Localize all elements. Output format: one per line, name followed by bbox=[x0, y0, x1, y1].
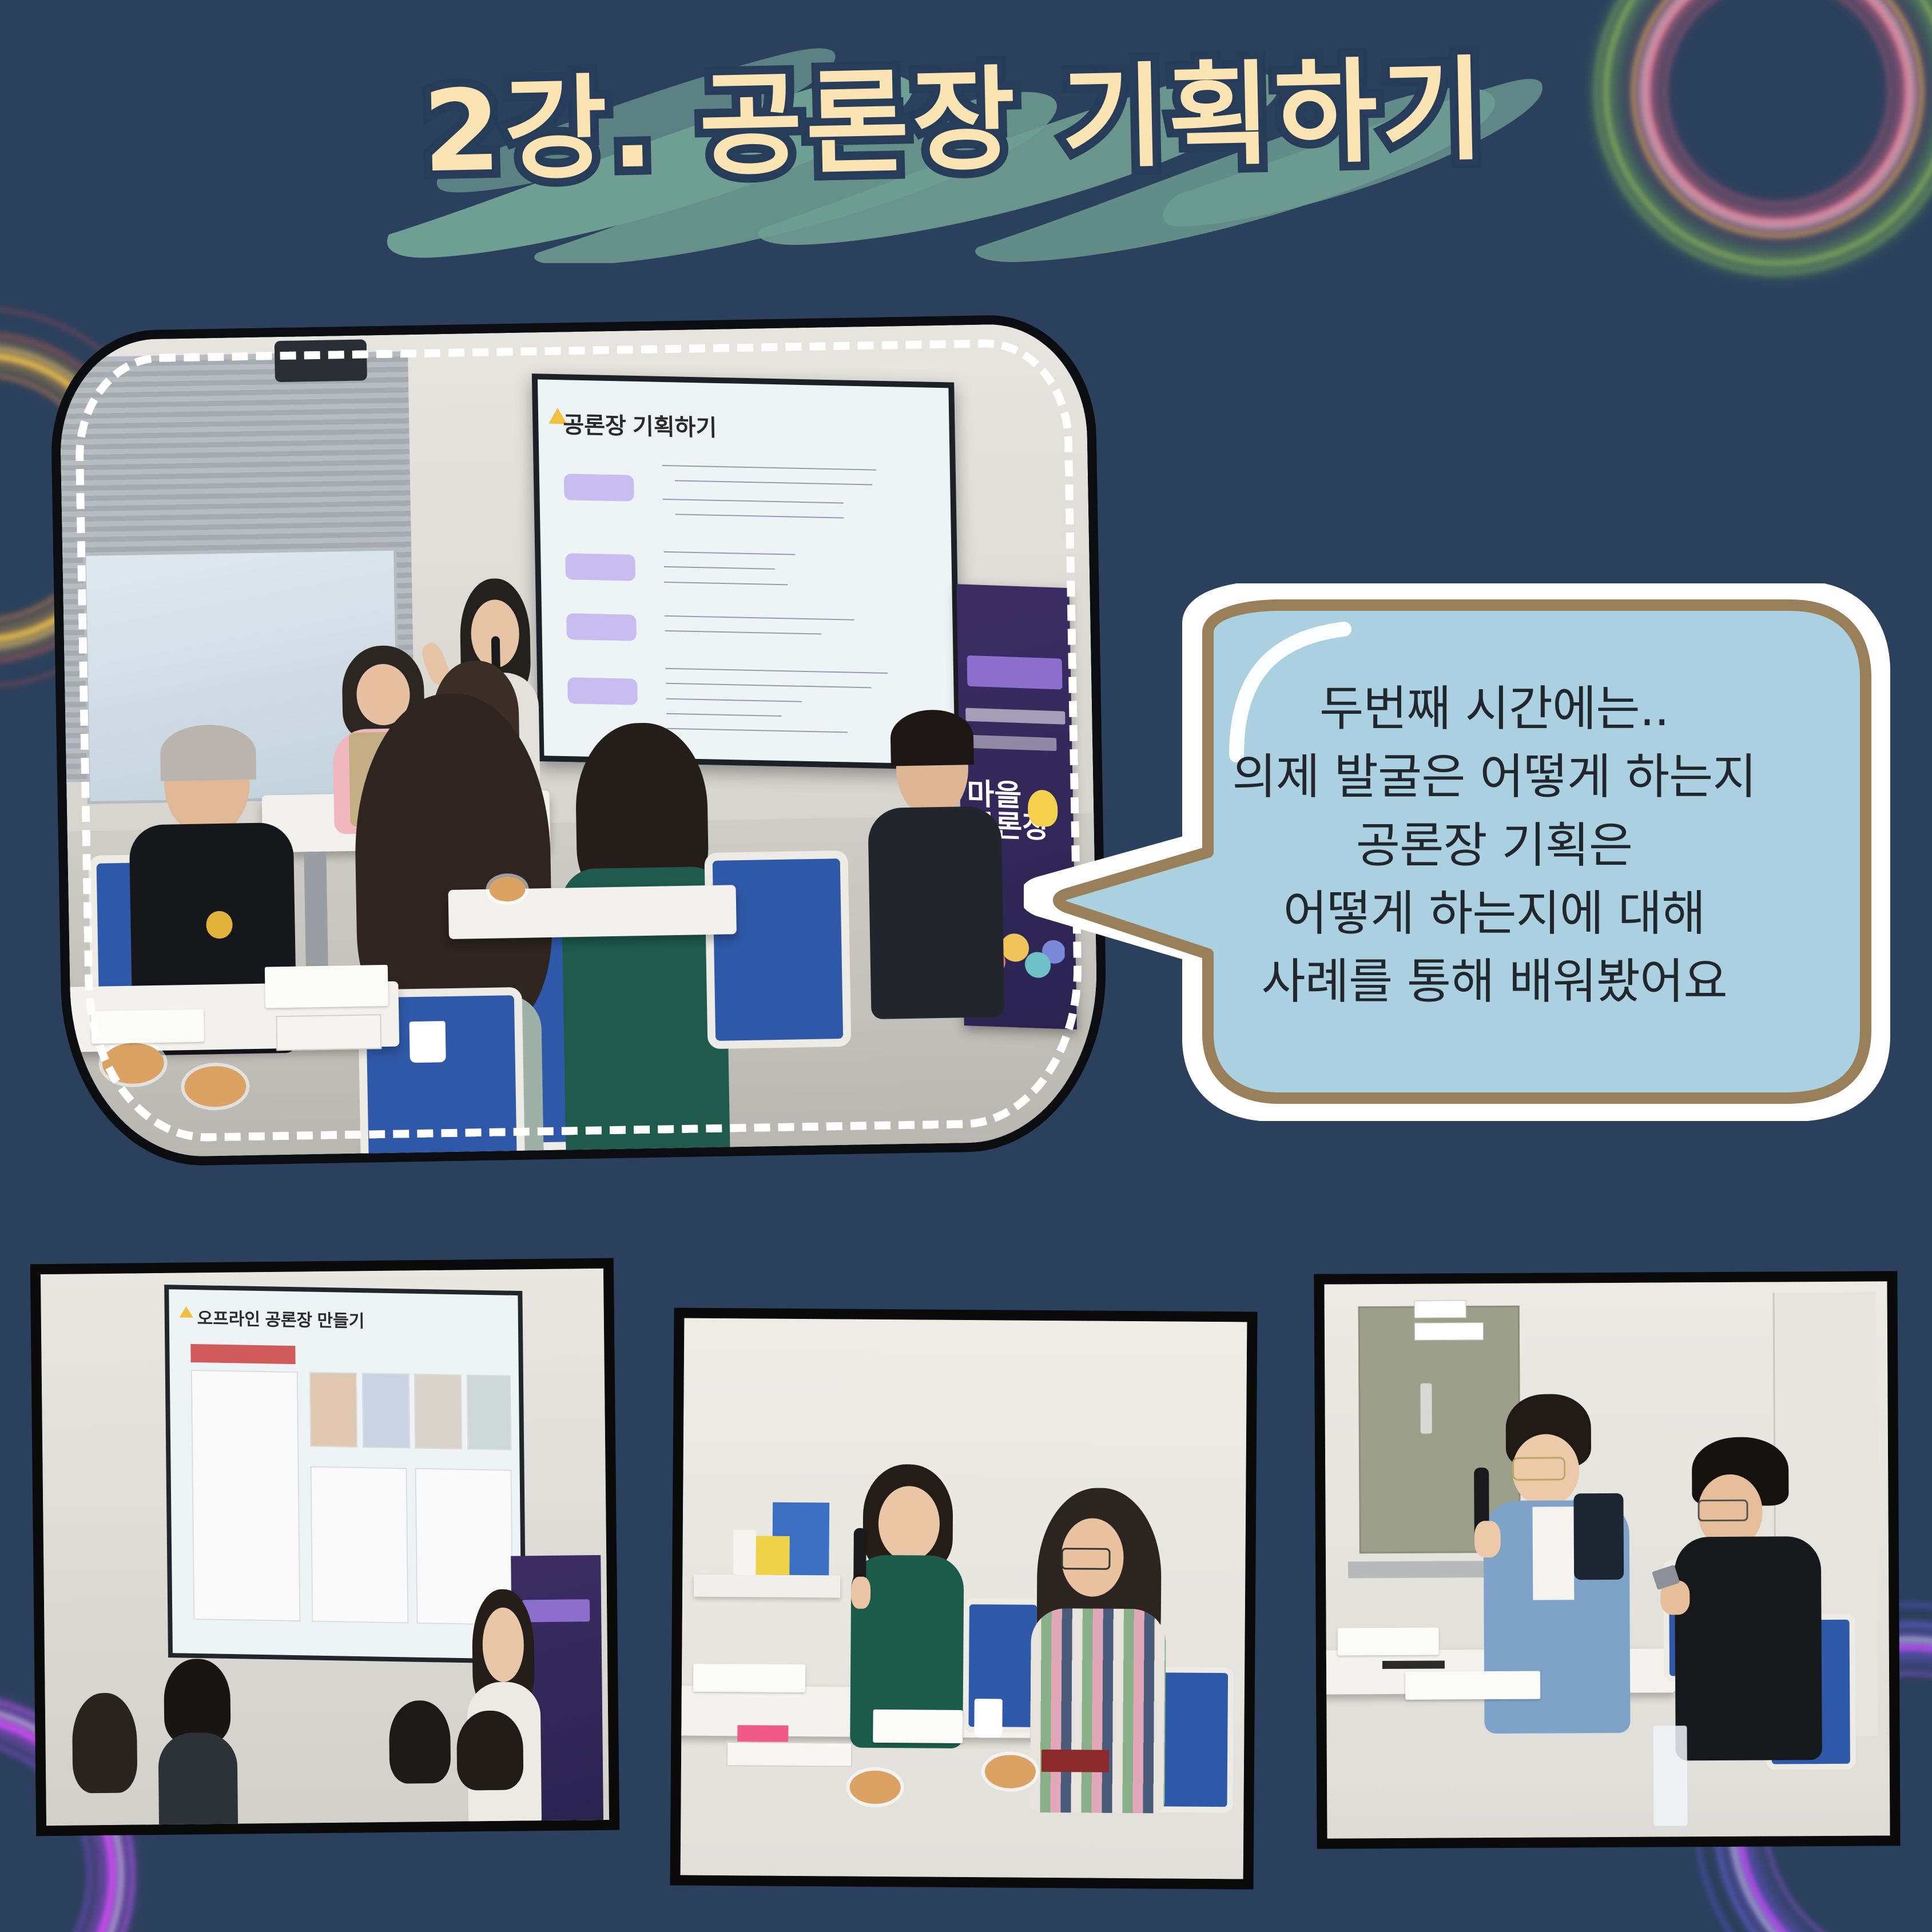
cabinet-tag bbox=[1414, 1300, 1466, 1318]
mini-attendee bbox=[383, 1700, 458, 1826]
slide-body-line bbox=[675, 514, 844, 518]
poster-canvas: 2강. 공론장 기획하기 공론장 기획하기 bbox=[0, 0, 1932, 1932]
slide-chip-goal bbox=[564, 474, 634, 502]
paper-cup bbox=[974, 1699, 1003, 1738]
glasses bbox=[1512, 1457, 1565, 1481]
rolled-paper bbox=[693, 1664, 806, 1692]
bread-item bbox=[985, 1755, 1036, 1788]
handout bbox=[873, 1710, 963, 1744]
bubble-line: 공론장 기획은 bbox=[1147, 812, 1842, 880]
speech-bubble: 두번째 시간에는.. 의제 발굴은 어떻게 하는지 공론장 기획은 어떻게 하는… bbox=[1024, 583, 1893, 1121]
head bbox=[878, 1486, 940, 1561]
torso bbox=[868, 806, 1005, 1020]
article-card bbox=[191, 1370, 301, 1621]
slide-body-line bbox=[666, 713, 781, 716]
side-shelf bbox=[694, 1575, 840, 1598]
thumbnail-2-image bbox=[681, 1318, 1247, 1879]
slide-body-line bbox=[666, 668, 888, 674]
ceiling-projector bbox=[275, 340, 368, 382]
handout bbox=[91, 1009, 204, 1044]
pen bbox=[1382, 1660, 1444, 1669]
slide-body-line bbox=[662, 464, 876, 470]
feed-card bbox=[309, 1372, 358, 1448]
black-hoodie bbox=[1675, 1536, 1822, 1760]
listening-participant-black bbox=[1674, 1437, 1822, 1748]
page-title: 2강. 공론장 기획하기 bbox=[365, 39, 1546, 204]
mini-attendee bbox=[450, 1710, 530, 1826]
hero-photo: 공론장 기획하기 bbox=[59, 323, 1100, 1158]
mini-attendee bbox=[67, 1692, 142, 1826]
hero-scene: 공론장 기획하기 bbox=[59, 323, 1100, 1158]
feed-card bbox=[414, 1374, 463, 1450]
handout bbox=[1337, 1627, 1438, 1655]
participant-right bbox=[866, 717, 1005, 997]
bubble-line: 사례를 통해 배워봤어요 bbox=[1147, 948, 1842, 1016]
thumbnail-photo-1: 오프라인 공론장 만들기 81 bbox=[30, 1258, 619, 1836]
thumbnail-1-image: 오프라인 공론장 만들기 81 bbox=[41, 1269, 609, 1826]
plaid-coat bbox=[1029, 1608, 1166, 1813]
glasses bbox=[1061, 1548, 1111, 1570]
white-tshirt bbox=[1533, 1507, 1574, 1600]
slide-body-line bbox=[664, 566, 775, 570]
comment-column bbox=[311, 1466, 409, 1623]
bread-item bbox=[850, 1771, 901, 1804]
chair-right bbox=[704, 850, 851, 1050]
slide-body-line bbox=[664, 581, 788, 585]
hand bbox=[851, 1576, 870, 1608]
glasses bbox=[1698, 1500, 1748, 1522]
slide-chip-participants bbox=[565, 553, 635, 581]
feed-card bbox=[362, 1373, 411, 1449]
slide-body-line bbox=[663, 499, 844, 504]
head bbox=[482, 1608, 524, 1682]
article-header bbox=[190, 1344, 295, 1364]
bubble-line: 두번째 시간에는.. bbox=[1147, 675, 1842, 743]
pink-notepad bbox=[738, 1725, 789, 1742]
slide-body-line bbox=[675, 480, 872, 485]
thumbnail-3-image bbox=[1324, 1281, 1890, 1838]
slide-body-line bbox=[665, 630, 821, 635]
water-bottle bbox=[1653, 1726, 1687, 1826]
slide-chip-operation bbox=[567, 677, 638, 705]
mini-slide-triangle-icon bbox=[180, 1306, 193, 1317]
hand bbox=[1474, 1521, 1501, 1557]
handout bbox=[265, 965, 389, 1008]
torso bbox=[158, 1732, 238, 1826]
mini-slide-title: 오프라인 공론장 만들기 bbox=[197, 1305, 365, 1333]
hair bbox=[457, 1711, 524, 1791]
listening-participant bbox=[1030, 1488, 1167, 1790]
mini-attendee bbox=[157, 1658, 238, 1826]
cabinet-handle bbox=[1421, 1384, 1432, 1433]
marker-box bbox=[276, 1014, 381, 1051]
slide-body-line bbox=[666, 683, 871, 689]
slide-body-line bbox=[666, 698, 802, 702]
notebook bbox=[1041, 1750, 1109, 1772]
paper-cup bbox=[410, 1021, 446, 1063]
projection-screen: 공론장 기획하기 bbox=[531, 373, 960, 770]
marker-box bbox=[726, 1742, 853, 1767]
slide-title: 공론장 기획하기 bbox=[563, 406, 717, 443]
cabinet-label bbox=[1414, 1322, 1483, 1341]
feed-card bbox=[467, 1374, 512, 1450]
handout bbox=[1405, 1671, 1540, 1700]
slide-body-line bbox=[665, 615, 853, 620]
hair bbox=[72, 1692, 137, 1794]
thumbnail-photo-3 bbox=[1314, 1271, 1900, 1848]
thumbnail-photo-2 bbox=[670, 1307, 1257, 1889]
navy-hood bbox=[1574, 1493, 1624, 1580]
bubble-line: 어떻게 하는지에 대해 bbox=[1147, 880, 1842, 948]
supply-box bbox=[756, 1536, 790, 1575]
supply-bottle bbox=[733, 1530, 756, 1575]
hair bbox=[890, 709, 973, 766]
speech-bubble-text: 두번째 시간에는.. 의제 발굴은 어떻게 하는지 공론장 기획은 어떻게 하는… bbox=[1147, 675, 1842, 1016]
chair-back bbox=[704, 850, 851, 1050]
slide-chip-issue bbox=[566, 613, 637, 641]
slide-body-line bbox=[663, 551, 795, 555]
table-leg bbox=[304, 852, 328, 967]
hair bbox=[388, 1700, 451, 1784]
speaking-participant bbox=[850, 1464, 965, 1732]
page-title-block: 2강. 공론장 기획하기 bbox=[366, 23, 1544, 263]
neon-arc-top-right bbox=[1532, 0, 1932, 383]
bubble-line: 의제 발굴은 어떻게 하는지 bbox=[1147, 743, 1842, 811]
gray-hair bbox=[160, 723, 256, 781]
hair bbox=[164, 1659, 230, 1744]
